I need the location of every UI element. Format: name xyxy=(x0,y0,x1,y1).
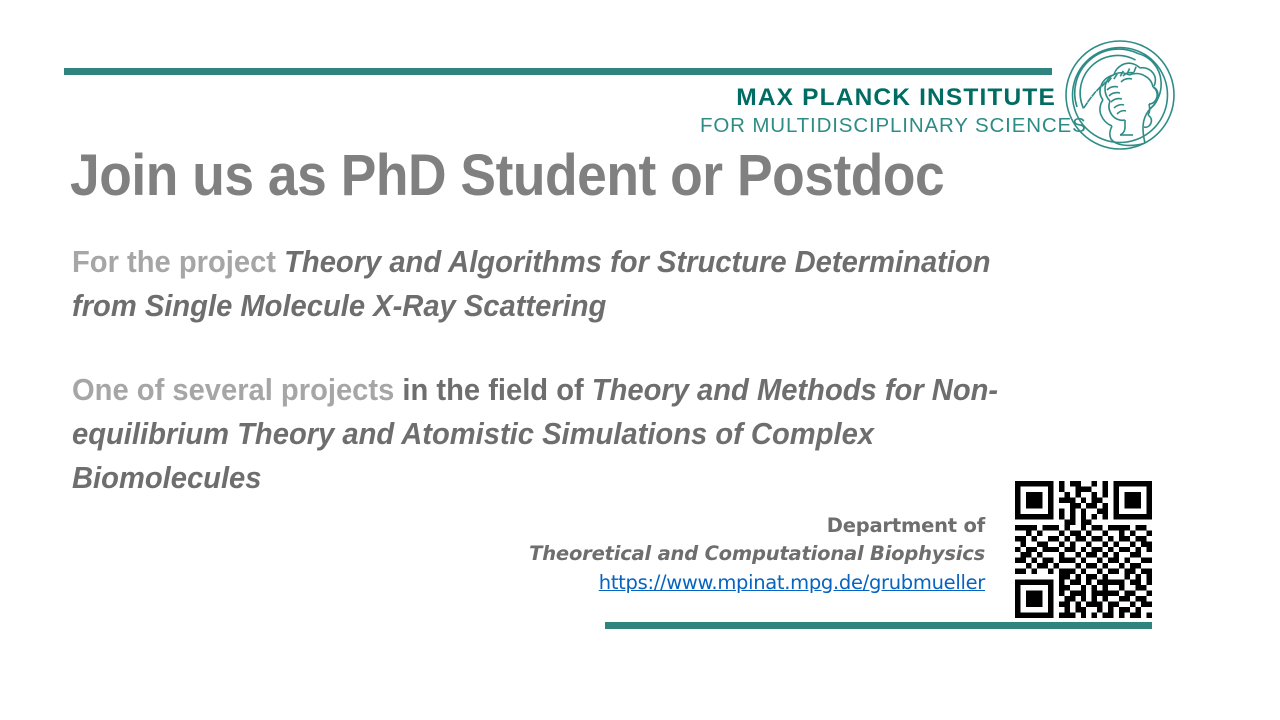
top-accent-rule xyxy=(64,68,1052,75)
bottom-accent-rule xyxy=(605,622,1152,629)
paragraph-project: For the project Theory and Algorithms fo… xyxy=(72,240,1050,328)
mpi-wordmark-line2: FOR MULTIDISCIPLINARY SCIENCES xyxy=(700,114,1056,139)
paragraph-project-lead: For the project xyxy=(72,244,284,279)
department-label: Department of xyxy=(420,512,985,540)
minerva-head-icon xyxy=(1063,38,1177,152)
footer-block: Department of Theoretical and Computatio… xyxy=(420,512,985,597)
paragraph-field: One of several projects in the field of … xyxy=(72,368,1050,500)
body-copy: For the project Theory and Algorithms fo… xyxy=(72,240,1050,500)
group-website-link[interactable]: https://www.mpinat.mpg.de/grubmueller xyxy=(599,569,985,597)
page-title: Join us as PhD Student or Postdoc xyxy=(70,146,1082,207)
slide-canvas: MAX PLANCK INSTITUTE FOR MULTIDISCIPLINA… xyxy=(0,0,1280,720)
paragraph-field-lead: One of several projects xyxy=(72,372,402,407)
qr-code[interactable] xyxy=(1015,481,1152,618)
paragraph-field-normal: in the field of xyxy=(402,372,591,407)
mpi-wordmark: MAX PLANCK INSTITUTE FOR MULTIDISCIPLINA… xyxy=(700,86,1056,138)
department-name: Theoretical and Computational Biophysics xyxy=(420,540,985,568)
mpi-wordmark-line1: MAX PLANCK INSTITUTE xyxy=(700,86,1056,111)
